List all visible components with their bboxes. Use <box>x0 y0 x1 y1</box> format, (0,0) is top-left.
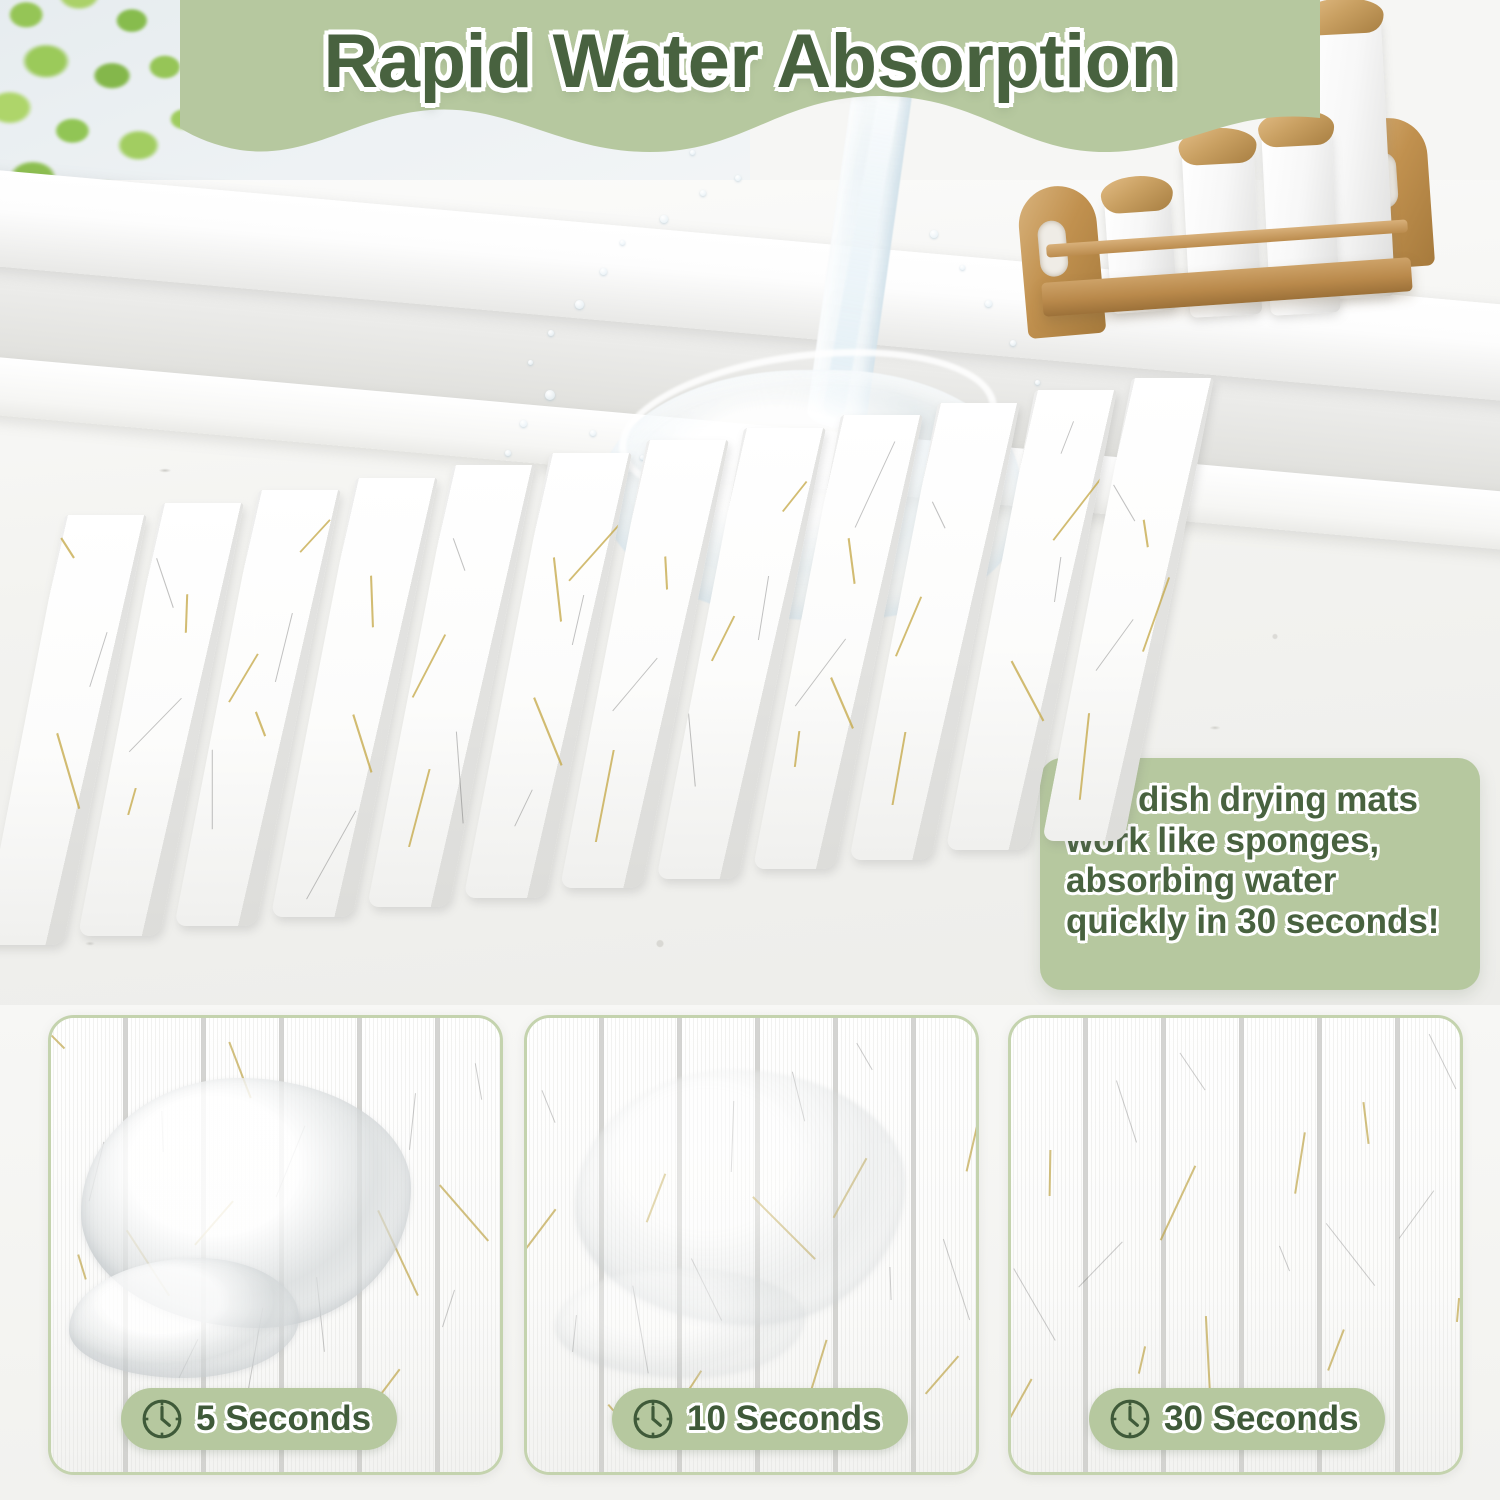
water-droplet <box>700 190 706 196</box>
water-droplet <box>575 300 584 309</box>
status-badge-label: 5 Seconds <box>196 1399 371 1439</box>
water-droplet <box>520 420 527 427</box>
marble-vein <box>1008 1379 1033 1422</box>
marble-vein <box>612 658 657 711</box>
marble-vein <box>306 810 356 899</box>
marble-vein <box>925 1355 959 1394</box>
marble-vein <box>553 557 562 622</box>
marble-vein <box>758 576 769 640</box>
status-badge: 10 Seconds <box>612 1388 908 1450</box>
marble-vein <box>855 441 896 527</box>
marble-vein <box>1011 660 1045 721</box>
marble-vein <box>1078 1241 1122 1287</box>
marble-vein <box>1180 1053 1206 1091</box>
marble-vein <box>1205 1316 1211 1396</box>
water-droplet <box>1035 380 1040 385</box>
water-droplet <box>590 430 596 436</box>
marble-vein <box>794 731 800 767</box>
status-badge: 5 Seconds <box>121 1388 397 1450</box>
marble-vein <box>891 731 906 804</box>
marble-vein <box>299 519 330 553</box>
marble-vein <box>848 538 856 584</box>
marble-vein <box>228 654 259 703</box>
water-droplet <box>548 330 554 336</box>
marble-vein <box>830 677 854 729</box>
marble-vein <box>456 731 464 823</box>
marble-vein <box>185 594 188 633</box>
marble-vein <box>782 480 807 511</box>
marble-vein <box>408 769 431 847</box>
marble-vein <box>856 1043 872 1070</box>
mat-slat <box>1395 1015 1463 1475</box>
marble-vein <box>595 750 615 842</box>
marble-vein <box>1116 1080 1137 1142</box>
marble-vein <box>943 1239 970 1320</box>
water-droplet <box>985 300 992 307</box>
marble-vein <box>533 697 562 766</box>
status-badge-label: 30 Seconds <box>1164 1399 1359 1439</box>
water-droplet <box>960 265 965 270</box>
marble-vein <box>1362 1102 1369 1144</box>
panel-10-seconds[interactable]: 10 Seconds <box>524 1015 979 1475</box>
water-droplet <box>505 450 511 456</box>
marble-vein <box>77 1254 87 1279</box>
marble-vein <box>1326 1223 1375 1286</box>
marble-vein <box>275 613 293 682</box>
marble-vein <box>89 632 107 687</box>
marble-vein <box>1160 1165 1196 1240</box>
marble-vein <box>1113 484 1135 521</box>
marble-vein <box>1060 421 1074 454</box>
marble-vein <box>1013 1268 1055 1340</box>
panel-30-seconds[interactable]: 30 Seconds <box>1008 1015 1463 1475</box>
water-droplet <box>620 240 625 245</box>
water-droplet <box>1010 340 1016 346</box>
marble-vein <box>966 1124 979 1171</box>
marble-vein <box>352 714 372 773</box>
marble-vein <box>48 1031 65 1049</box>
marble-vein <box>156 558 174 608</box>
marble-vein <box>1049 1150 1052 1196</box>
marble-vein <box>1096 619 1134 671</box>
marble-vein <box>1429 1034 1457 1089</box>
marble-vein <box>572 594 584 644</box>
status-badge-label: 10 Seconds <box>687 1399 882 1439</box>
marketing-image: Rapid Water Absorption Our dish drying m… <box>0 0 1500 1500</box>
marble-vein <box>442 1290 455 1327</box>
marble-vein <box>1327 1329 1345 1371</box>
marble-vein <box>56 733 80 809</box>
marble-vein <box>439 1184 489 1241</box>
header-banner: Rapid Water Absorption <box>180 0 1320 190</box>
clock-icon <box>1109 1398 1151 1440</box>
marble-vein <box>453 538 466 571</box>
marble-vein <box>932 501 946 528</box>
marble-vein <box>129 697 182 751</box>
marble-vein <box>212 750 213 830</box>
water-droplet <box>545 390 555 400</box>
marble-vein <box>514 789 532 826</box>
marble-vein <box>412 634 446 697</box>
marble-vein <box>1279 1246 1290 1271</box>
panel-5-seconds[interactable]: 5 Seconds <box>48 1015 503 1475</box>
marble-vein <box>1143 519 1149 547</box>
water-droplet <box>528 360 533 365</box>
absorption-timeline: 5 Seconds 10 Seconds <box>0 1005 1500 1500</box>
marble-vein <box>1456 1298 1460 1322</box>
marble-vein <box>475 1063 482 1100</box>
marble-vein <box>60 537 75 558</box>
marble-vein <box>255 711 266 736</box>
marble-vein <box>711 615 735 661</box>
marble-vein <box>895 596 922 656</box>
water-puddle-fading-small <box>555 1268 805 1378</box>
marble-vein <box>1079 713 1090 800</box>
marble-vein <box>1142 577 1170 651</box>
water-droplet <box>660 215 668 223</box>
marble-vein <box>409 1093 416 1150</box>
marble-vein <box>127 787 137 814</box>
page-title: Rapid Water Absorption <box>180 18 1320 105</box>
caddy-side-left <box>1016 183 1107 339</box>
mat-slat <box>911 1015 979 1475</box>
marble-vein <box>1294 1132 1306 1194</box>
marble-vein <box>1399 1190 1434 1238</box>
marble-vein <box>541 1090 555 1123</box>
clock-icon <box>632 1398 674 1440</box>
marble-vein <box>688 713 696 786</box>
marble-vein <box>889 1267 891 1300</box>
hero-scene: Rapid Water Absorption Our dish drying m… <box>0 0 1500 1005</box>
marble-vein <box>370 575 374 627</box>
water-droplet <box>600 268 607 275</box>
water-droplet <box>930 230 938 238</box>
clock-icon <box>141 1398 183 1440</box>
marble-vein <box>1138 1346 1146 1374</box>
status-badge: 30 Seconds <box>1089 1388 1385 1450</box>
marble-vein <box>524 1209 556 1268</box>
mat-slat <box>1008 1015 1085 1475</box>
marble-vein <box>664 556 668 589</box>
marble-vein <box>1054 557 1061 602</box>
mat-slat <box>435 1015 503 1475</box>
